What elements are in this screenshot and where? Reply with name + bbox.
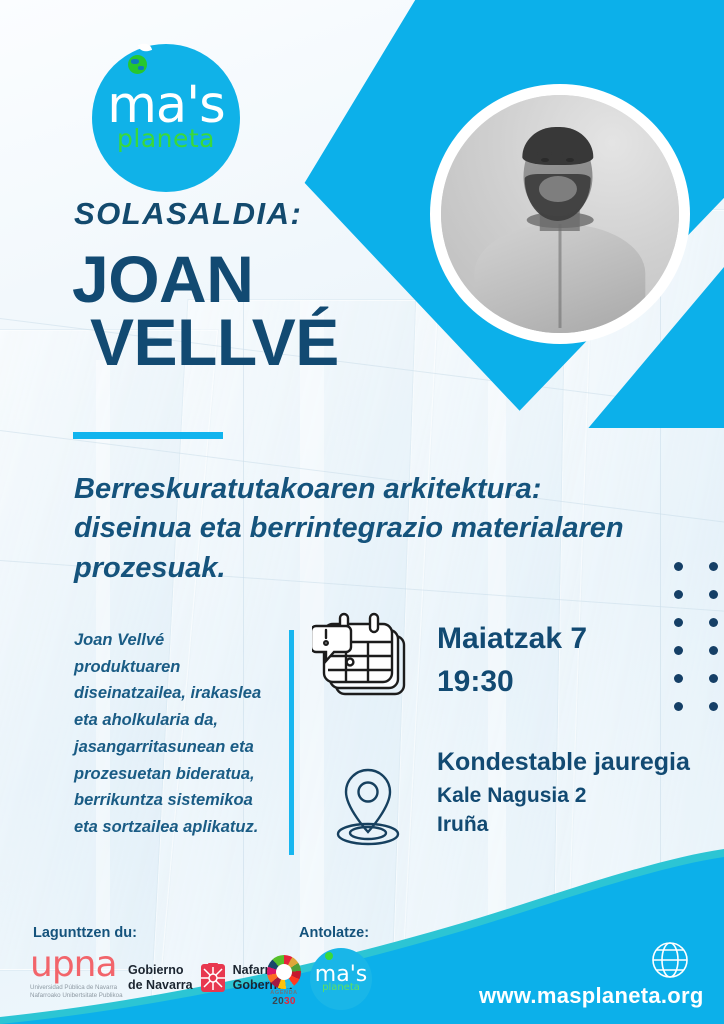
upna-subtitle-eu: Nafarroako Unibertsitate Publikoa [30, 992, 140, 1000]
sdg-agenda2030-logo: AGENDA 2030 [262, 955, 306, 1007]
mini-logo-wordmark: ma's [315, 965, 367, 985]
event-date: Maiatzak 7 [437, 618, 587, 661]
website-link[interactable]: www.masplaneta.org [479, 983, 704, 1009]
speaker-bio: Joan Vellvé produktuaren diseinatzailea,… [74, 627, 274, 841]
event-venue: Kondestable jauregia [437, 745, 690, 781]
event-location: Kondestable jauregia Kale Nagusia 2 Iruñ… [437, 745, 690, 840]
speaker-portrait [441, 95, 679, 333]
upna-wordmark: upna [30, 950, 140, 981]
upna-subtitle: Universidad Pública de Navarra Nafarroak… [30, 984, 140, 1001]
gov-es-line1: Gobierno [128, 963, 193, 978]
support-label: Lagunttzen du: [33, 925, 137, 941]
sdg-year-second: 30 [284, 996, 296, 1007]
speaker-portrait-frame [430, 84, 690, 344]
event-city: Iruña [437, 810, 690, 840]
mini-globe-icon [325, 952, 333, 960]
speaker-name: JOAN VELLVÉ [72, 248, 339, 375]
upna-logo: upna Universidad Pública de Navarra Nafa… [30, 950, 140, 1000]
dot-grid-decoration [666, 556, 724, 716]
speaker-last-name: VELLVÉ [90, 311, 339, 374]
organizer-mas-planeta-logo: ma's planeta [310, 948, 372, 1010]
event-time: 19:30 [437, 661, 587, 704]
navarra-shield-icon [199, 962, 227, 994]
organizer-label: Antolatze: [299, 925, 369, 941]
event-poster: ma's planeta SOLASALDIA: JOAN VELLVÉ Ber… [0, 0, 724, 1024]
logo-wordmark: ma's [107, 83, 225, 129]
gobierno-navarra-text-es: Gobierno de Navarra [128, 963, 193, 994]
event-street: Kale Nagusia 2 [437, 781, 690, 811]
upna-subtitle-es: Universidad Pública de Navarra [30, 984, 140, 992]
talk-title: Berreskuratutakoaren arkitektura: disein… [74, 470, 654, 588]
divider-rule [73, 432, 223, 439]
globe-icon [128, 55, 147, 74]
globe-web-icon [648, 938, 692, 982]
sdg-wheel-icon [267, 955, 301, 989]
location-pin-icon [330, 762, 406, 848]
sdg-year-label: 2030 [262, 996, 306, 1007]
kicker-label: SOLASALDIA: [74, 196, 302, 232]
event-datetime: Maiatzak 7 19:30 [437, 618, 587, 703]
mas-planeta-logo: ma's planeta [92, 44, 240, 192]
vertical-divider [289, 630, 294, 855]
sdg-year-first: 20 [272, 996, 284, 1007]
gov-es-line2: de Navarra [128, 978, 193, 993]
calendar-icon [312, 612, 416, 708]
